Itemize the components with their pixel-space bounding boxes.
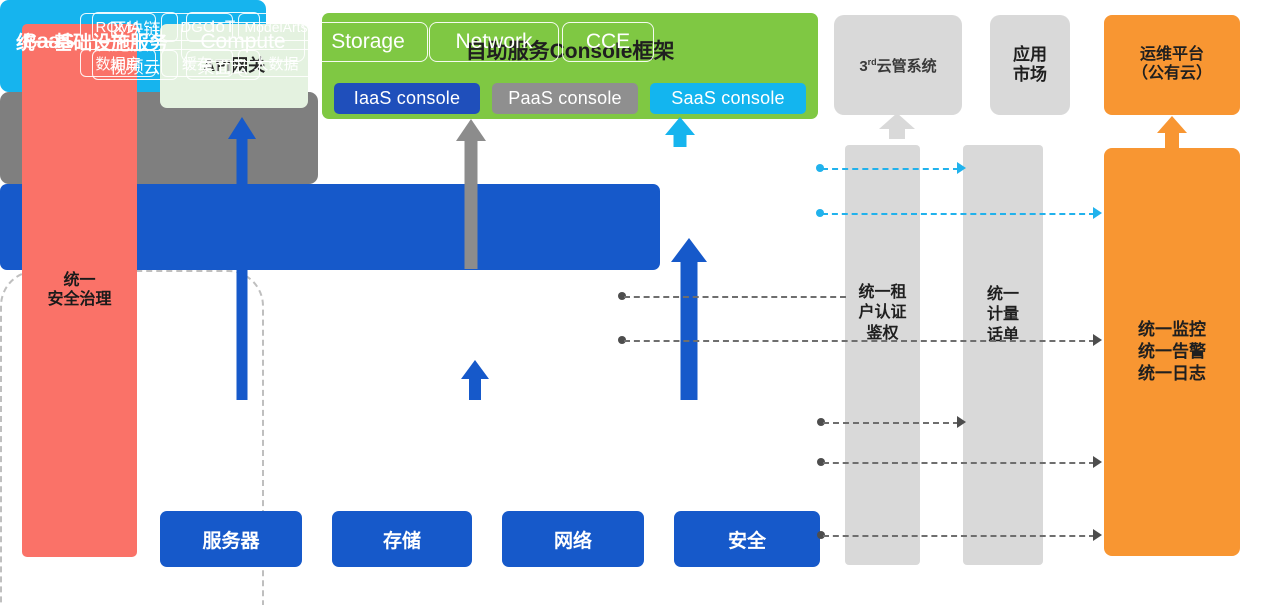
connector-arrowhead-infra-ops — [1093, 456, 1102, 468]
infra-service-network[interactable]: Network — [429, 22, 559, 62]
arrow-paas-to-console — [456, 119, 486, 269]
third-party-label: 3rd云管系统 — [859, 55, 936, 76]
connector-saas-to-ops — [822, 213, 1095, 215]
unified-tenant-auth-column[interactable] — [845, 145, 920, 565]
connector-infra-to-metering — [823, 422, 959, 424]
resource-tile-server[interactable]: 服务器 — [160, 511, 302, 567]
connector-infra-to-ops — [823, 462, 1095, 464]
infra-service-cce[interactable]: CCE — [562, 22, 654, 62]
unified-security-governance-block[interactable]: 统一 安全治理 — [22, 24, 137, 557]
unified-metering-column[interactable] — [963, 145, 1043, 565]
connector-paas-to-ops — [624, 340, 1095, 342]
connector-arrowhead-saas-metering — [957, 162, 966, 174]
iaas-console-pill[interactable]: IaaS console — [334, 83, 480, 114]
arrow-infra-to-api-gateway — [228, 117, 256, 400]
arrow-infra-to-paas — [461, 360, 489, 400]
application-market-block[interactable]: 应用 市场 — [990, 15, 1070, 115]
infra-service-storage[interactable]: Storage — [308, 22, 428, 62]
saas-console-pill[interactable]: SaaS console — [650, 83, 806, 114]
arrow-capsule-to-third-party — [879, 113, 915, 139]
connector-arrowhead-saas-ops — [1093, 207, 1102, 219]
unified-metering-label: 统一 计量 话单 — [963, 285, 1043, 346]
third-party-cloud-management-block[interactable]: 3rd云管系统 — [834, 15, 962, 115]
resource-tile-network[interactable]: 网络 — [502, 511, 644, 567]
connector-paas-to-auth — [624, 296, 846, 298]
architecture-diagram: 统一 安全治理 API网关 自助服务Console框架 IaaS console… — [0, 0, 1265, 605]
connector-saas-to-metering — [822, 168, 959, 170]
arrow-ops-column-to-header — [1157, 116, 1187, 149]
unified-monitoring-column[interactable]: 统一监控 统一告警 统一日志 — [1104, 148, 1240, 556]
paas-console-pill[interactable]: PaaS console — [492, 83, 638, 114]
resource-tile-storage[interactable]: 存储 — [332, 511, 472, 567]
ops-platform-header-block[interactable]: 运维平台 （公有云） — [1104, 15, 1240, 115]
resource-tile-security[interactable]: 安全 — [674, 511, 820, 567]
connector-arrowhead-infra-metering — [957, 416, 966, 428]
unified-infrastructure-label: 统一基础设施服务 — [16, 28, 168, 55]
connector-arrowhead-paas-ops — [1093, 334, 1102, 346]
arrow-infra-to-saas — [671, 238, 707, 400]
unified-tenant-auth-label: 统一租 户认证 鉴权 — [845, 283, 920, 344]
connector-arrowhead-resources-ops — [1093, 529, 1102, 541]
connector-resources-to-ops — [823, 535, 1095, 537]
arrow-saas-to-console — [665, 117, 695, 147]
infra-service-compute[interactable]: Compute — [181, 22, 305, 62]
